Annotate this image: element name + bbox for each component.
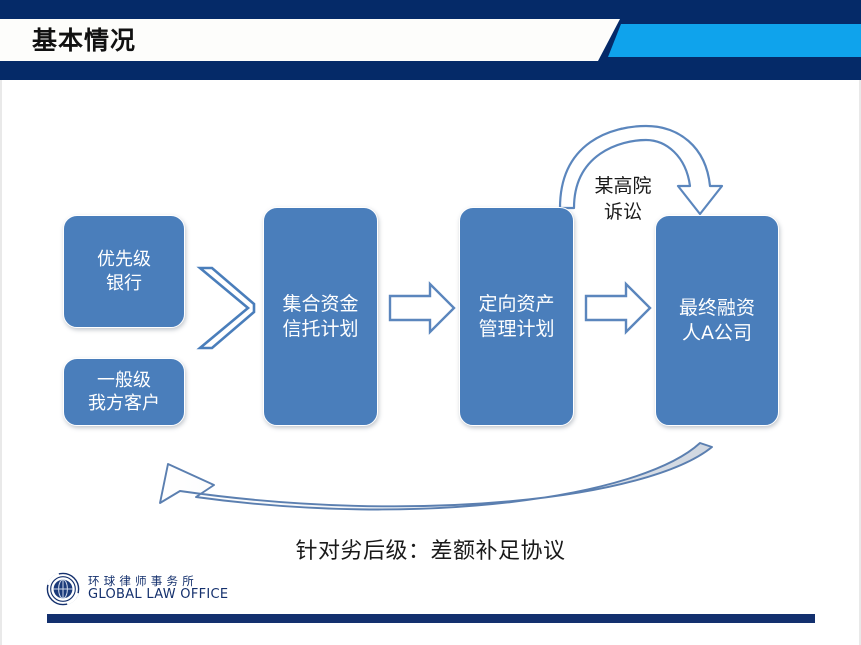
- flow-box-bank-line2: 银行: [97, 272, 151, 295]
- flow-box-trust[interactable]: 集合资金 信托计划: [263, 207, 378, 426]
- lawsuit-label-line2: 诉讼: [578, 200, 668, 226]
- flow-box-bank[interactable]: 优先级 银行: [63, 215, 185, 328]
- flow-box-trust-line1: 集合资金: [282, 292, 358, 316]
- chevron-bank-to-trust-icon: [200, 268, 254, 348]
- arc-guarantee-icon: [160, 443, 712, 509]
- header-cyan-shape: [608, 24, 861, 57]
- arrow-asset-to-company-icon: [586, 284, 650, 332]
- flow-box-bank-line1: 优先级: [97, 248, 151, 271]
- flow-box-trust-line2: 信托计划: [282, 317, 358, 341]
- arrow-trust-to-asset-icon: [390, 284, 454, 332]
- slide-canvas: 基本情况: [0, 0, 861, 645]
- globe-seal-icon: [46, 572, 80, 606]
- flow-box-asset[interactable]: 定向资产 管理计划: [459, 207, 574, 426]
- lawsuit-label: 某高院 诉讼: [578, 174, 668, 225]
- flow-box-company-line1: 最终融资: [679, 296, 755, 320]
- flow-box-client[interactable]: 一般级 我方客户: [63, 358, 185, 426]
- page-title: 基本情况: [32, 24, 136, 57]
- firm-name-en: GLOBAL LAW OFFICE: [88, 588, 228, 603]
- flow-box-client-line1: 一般级: [88, 369, 160, 392]
- flow-box-asset-line2: 管理计划: [478, 317, 554, 341]
- lawsuit-label-line1: 某高院: [578, 174, 668, 200]
- flow-box-client-line2: 我方客户: [88, 392, 160, 415]
- flow-box-asset-line1: 定向资产: [478, 292, 554, 316]
- flow-box-company-line2: 人A公司: [679, 321, 755, 345]
- firm-logo: 环球律师事务所 GLOBAL LAW OFFICE: [46, 572, 228, 606]
- guarantee-note: 针对劣后级：差额补足协议: [0, 533, 861, 565]
- footer-bar: [47, 614, 815, 623]
- flow-box-company[interactable]: 最终融资 人A公司: [655, 215, 779, 426]
